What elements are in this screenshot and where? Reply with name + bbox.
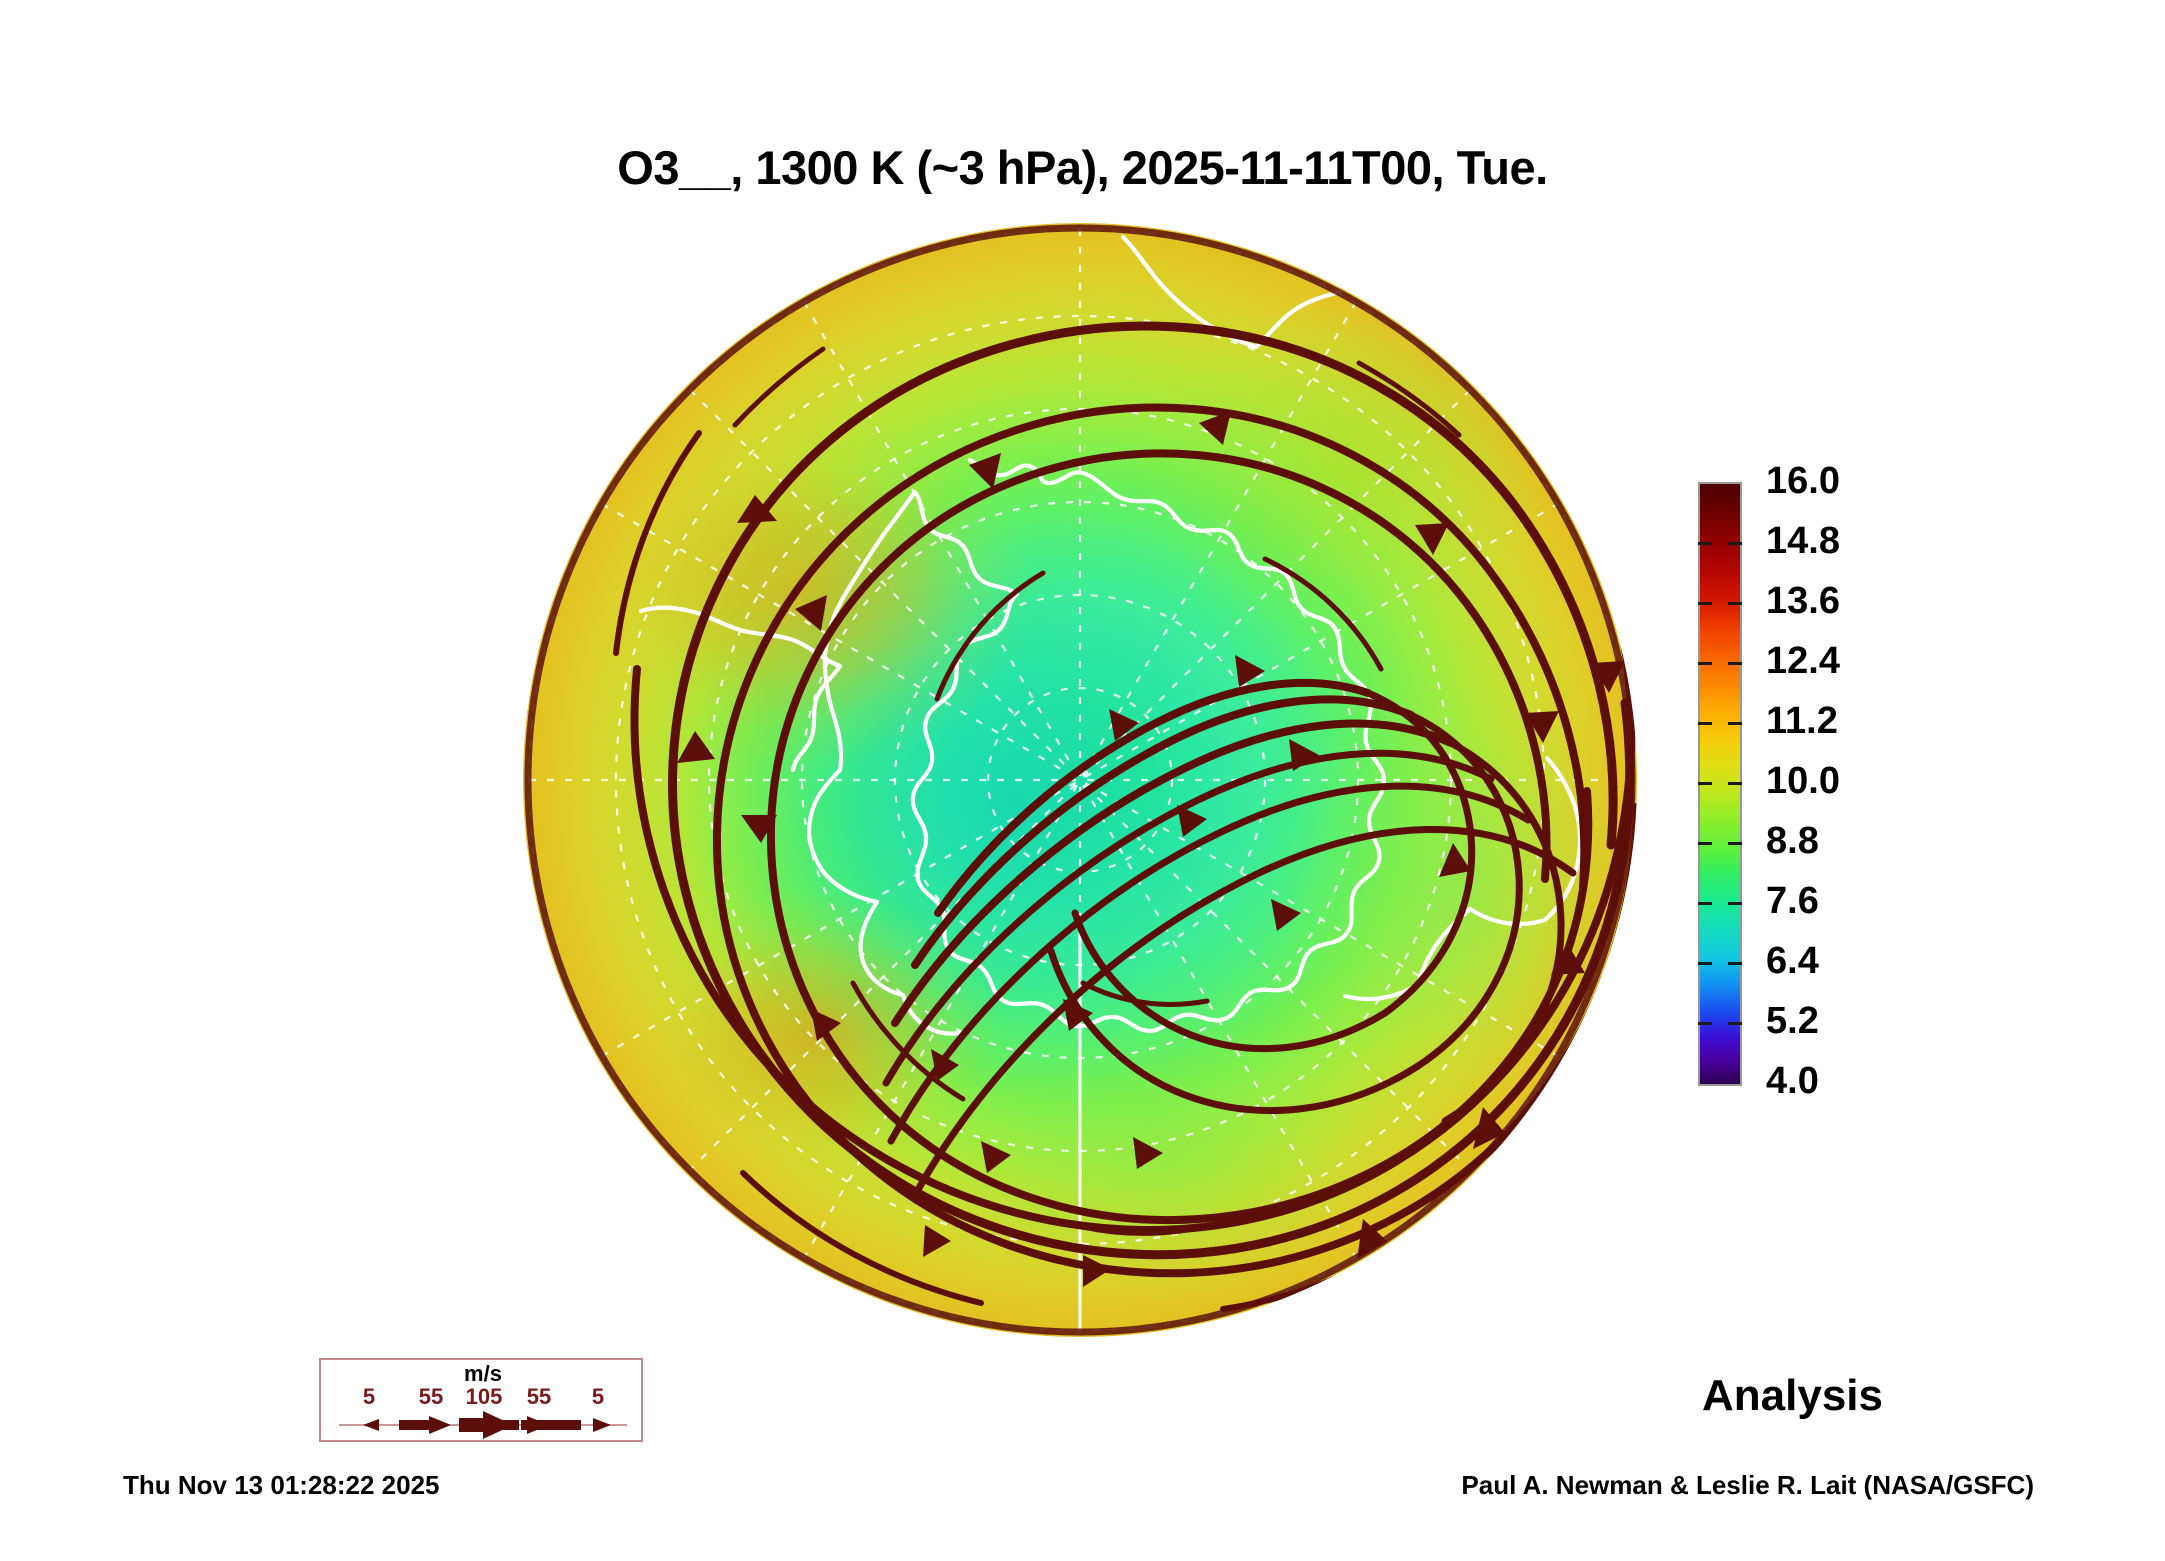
wind-key-value: 55 (419, 1384, 443, 1410)
colorbar-label: 13.6 (1766, 582, 1840, 620)
colorbar-label: 4.0 (1766, 1062, 1819, 1100)
wind-streamlines (616, 326, 1637, 1309)
colorbar-tick (1698, 782, 1712, 785)
colorbar-tick (1728, 902, 1742, 905)
map-disc (523, 223, 1637, 1337)
colorbar-tick (1728, 782, 1742, 785)
colorbar-tick (1698, 722, 1712, 725)
wind-key-value: 5 (363, 1384, 375, 1410)
colorbar-label: 5.2 (1766, 1002, 1819, 1040)
wind-key-value: 5 (592, 1384, 604, 1410)
author-credit: Paul A. Newman & Leslie R. Lait (NASA/GS… (1461, 1470, 2034, 1501)
colorbar-tick (1698, 1022, 1712, 1025)
colorbar-label: 7.6 (1766, 882, 1819, 920)
coastline-australia (1492, 346, 1610, 402)
colorbar-tick (1698, 962, 1712, 965)
colorbar-tick (1728, 842, 1742, 845)
polar-map (523, 223, 1637, 1337)
wind-key-values: 5 55 105 55 5 (321, 1384, 645, 1410)
colorbar-tick (1728, 962, 1742, 965)
colorbar-tick (1728, 542, 1742, 545)
wind-speed-key: m/s 5 55 105 55 5 (319, 1358, 643, 1442)
colorbar-label: 11.2 (1766, 702, 1838, 740)
colorbar-label: 10.0 (1766, 762, 1840, 800)
colorbar-tick (1698, 602, 1712, 605)
analysis-label: Analysis (1702, 1371, 1883, 1421)
wind-key-value: 105 (466, 1384, 503, 1410)
colorbar-tick (1698, 902, 1712, 905)
map-vector-overlay (523, 223, 1637, 1337)
colorbar-tick (1728, 722, 1742, 725)
colorbar-tick (1728, 662, 1742, 665)
colorbar-label: 6.4 (1766, 942, 1819, 980)
colorbar-label: 16.0 (1766, 462, 1840, 500)
colorbar-label: 8.8 (1766, 822, 1819, 860)
colorbar-tick (1698, 842, 1712, 845)
colorbar-label: 12.4 (1766, 642, 1840, 680)
colorbar-tick (1728, 1022, 1742, 1025)
wind-key-arrow-row (321, 1408, 645, 1442)
wind-key-value: 55 (527, 1384, 551, 1410)
colorbar-tick (1728, 602, 1742, 605)
colorbar-tick (1698, 662, 1712, 665)
colorbar-tick (1698, 542, 1712, 545)
colorbar: 16.0 14.8 13.6 12.4 11.2 10.0 8.8 7.6 6.… (1698, 478, 2118, 1098)
render-timestamp: Thu Nov 13 01:28:22 2025 (123, 1470, 440, 1501)
page-title: O3__, 1300 K (~3 hPa), 2025-11-11T00, Tu… (0, 140, 2165, 195)
colorbar-label: 14.8 (1766, 522, 1840, 560)
